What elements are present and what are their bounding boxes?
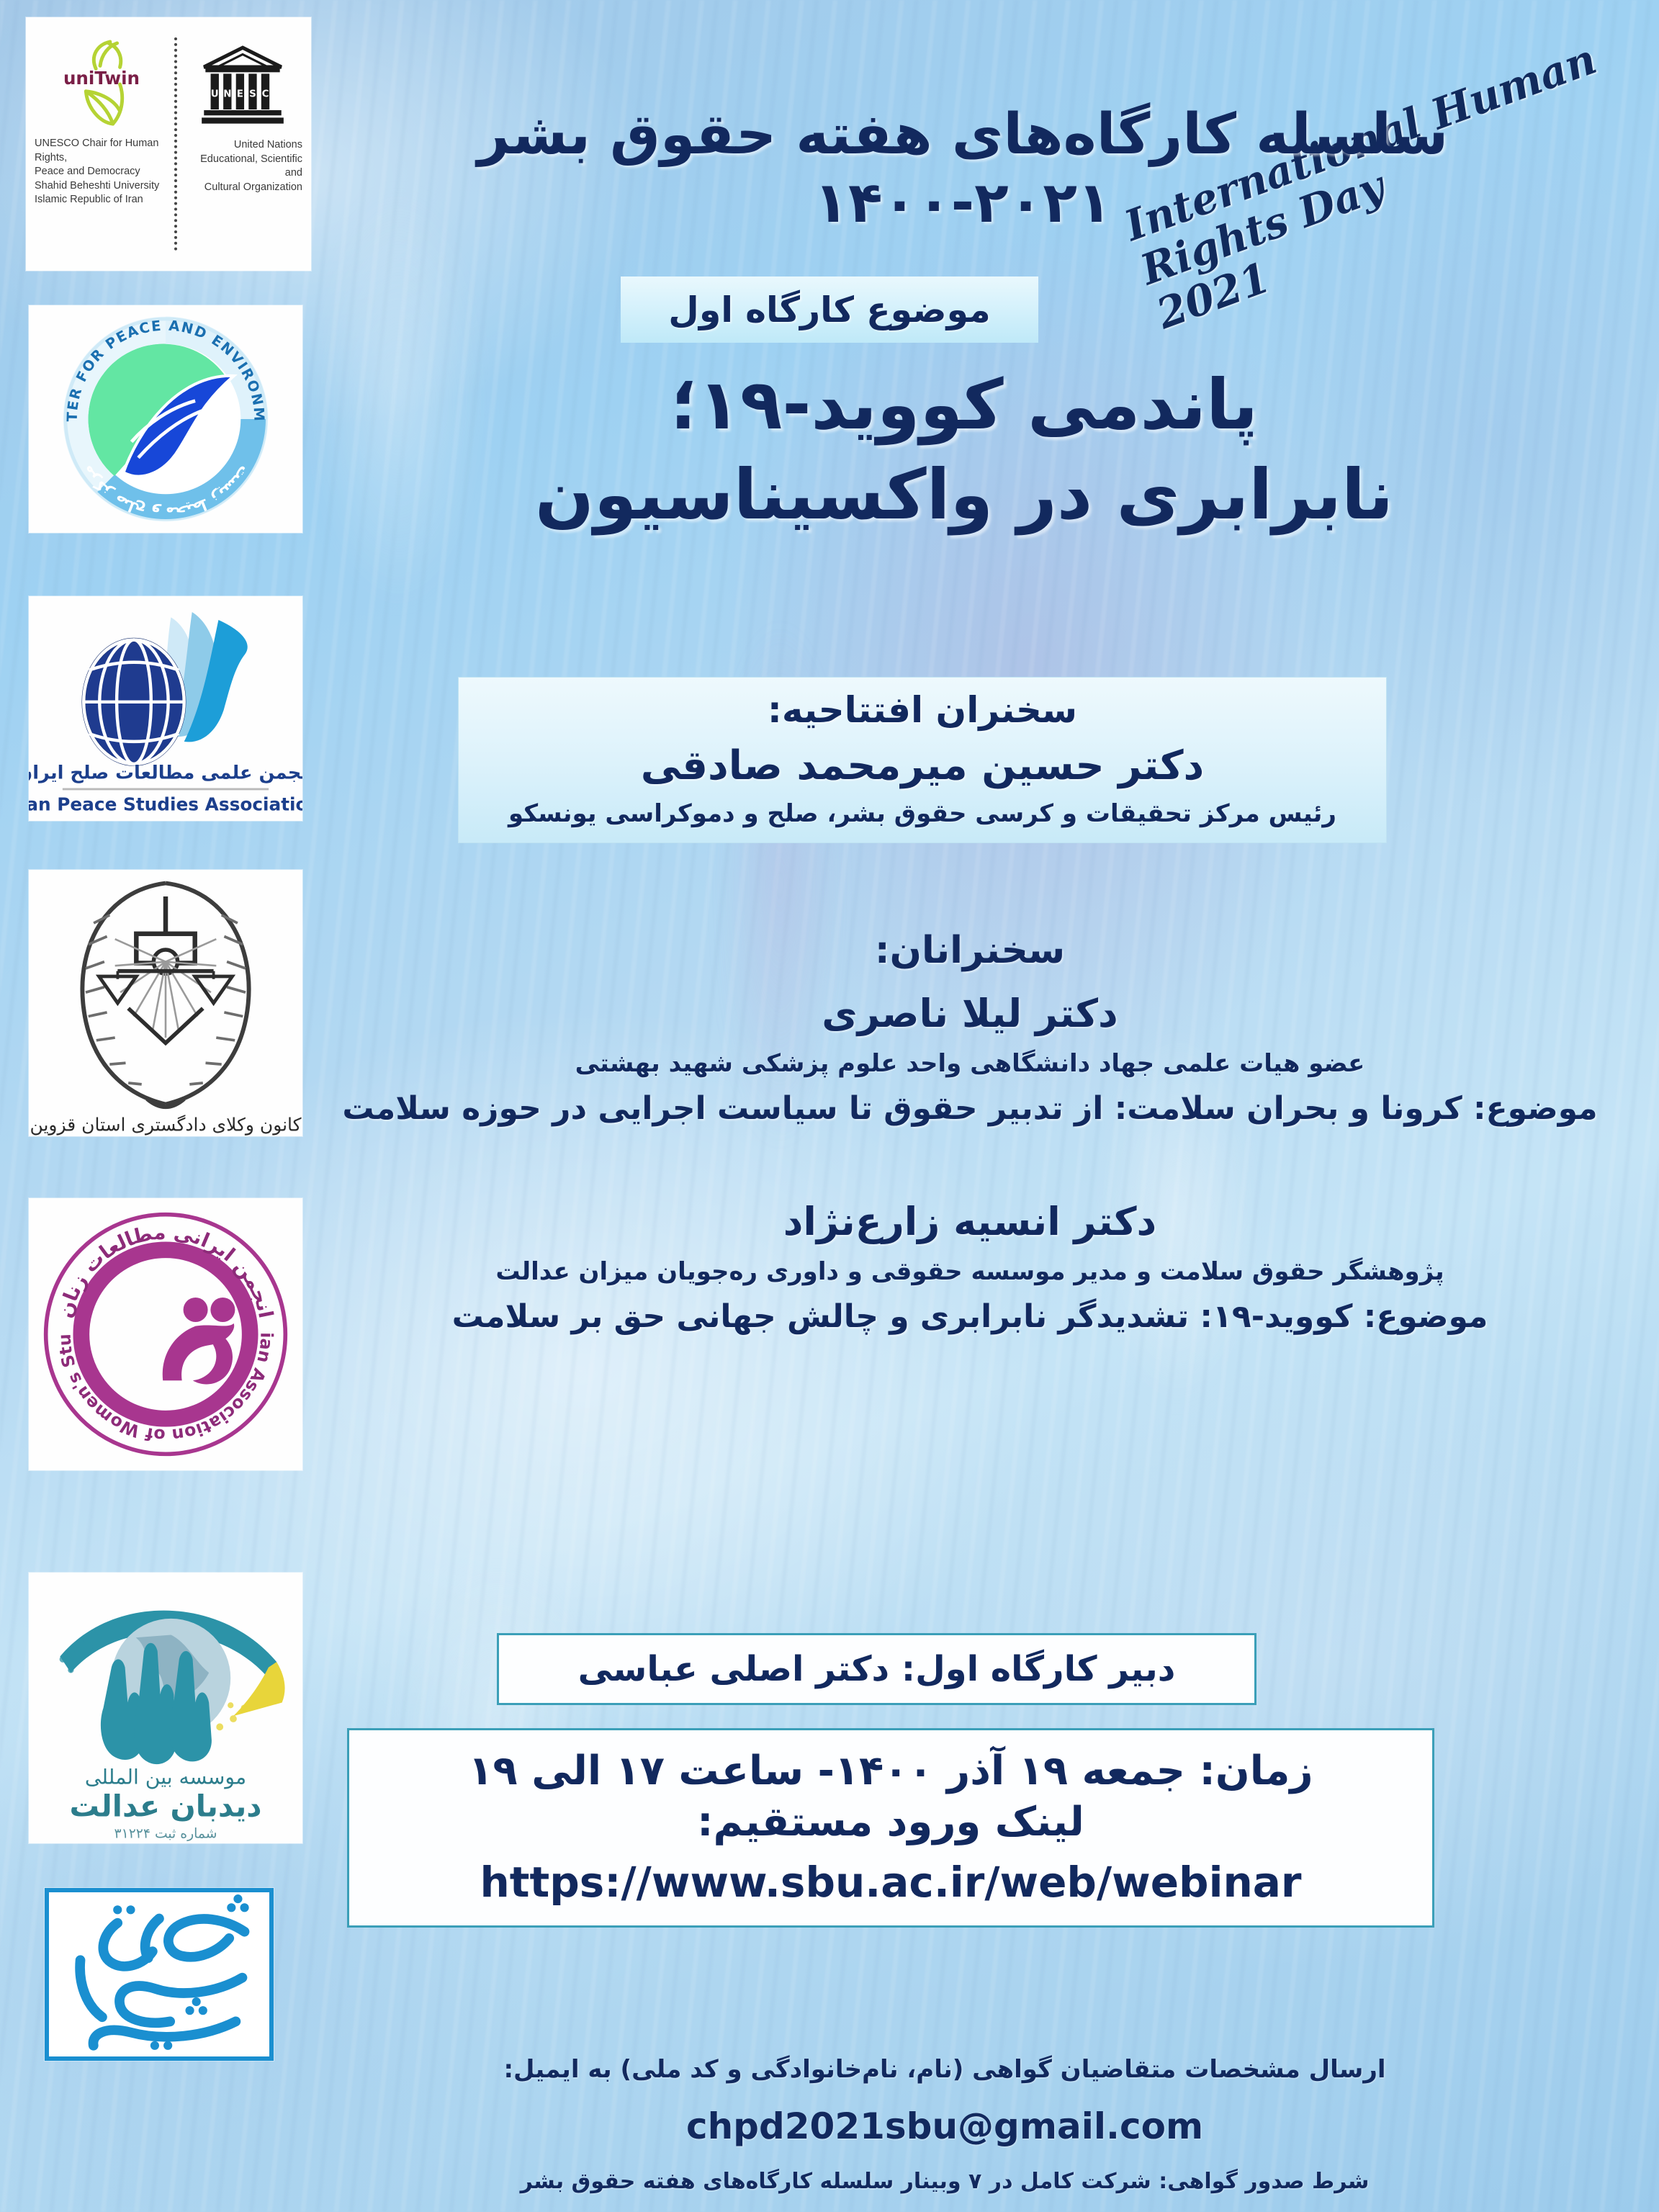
- svg-text:N: N: [223, 89, 231, 99]
- event-link-label: لینک ورود مستقیم:: [368, 1797, 1413, 1848]
- event-webinar-link[interactable]: https://www.sbu.ac.ir/web/webinar: [368, 1858, 1413, 1907]
- poster-canvas: U N E S C United Nations Educational, Sc…: [0, 0, 1659, 2212]
- opening-speaker-name: دکتر حسین میرمحمد صادقی: [472, 742, 1373, 789]
- footer-section: ارسال مشخصات متقاضیان گواهی (نام، نام‌خا…: [274, 2054, 1616, 2194]
- unitwin-caption: UNESCO Chair for Human Rights, Peace and…: [35, 137, 168, 207]
- svg-text:انجمن علمی مطالعات صلح ایران: انجمن علمی مطالعات صلح ایران: [29, 762, 302, 783]
- speaker-affiliation: پژوهشگر حقوق سلامت و مدیر موسسه حقوقی و …: [331, 1257, 1609, 1286]
- title-line-2: ۱۴۰۰-۲۰۲۱: [310, 169, 1616, 238]
- svg-text:S: S: [249, 89, 256, 99]
- speakers-heading: سخنرانان:: [331, 929, 1609, 972]
- speaker-affiliation: عضو هیات علمی جهاد دانشگاهی واحد علوم پز…: [331, 1049, 1609, 1078]
- peace-environment-seal-icon: CENTER FOR PEACE AND ENVIRONMENT مرکز صل…: [29, 305, 302, 533]
- speakers-section: سخنرانان: دکتر لیلا ناصری عضو هیات علمی …: [331, 929, 1609, 1338]
- logo-iranian-association-women-studies: انجمن ایرانی مطالعات زنان Iranian Associ…: [29, 1198, 302, 1470]
- unesco-temple-icon: U N E S C: [198, 45, 287, 130]
- unitwin-leaf-icon: uniTwin: [59, 37, 144, 128]
- event-time: زمان: جمعه ۱۹ آذر ۱۴۰۰- ساعت ۱۷ الی ۱۹: [368, 1746, 1413, 1797]
- svg-text:موسسه بین المللی: موسسه بین المللی: [85, 1765, 246, 1789]
- opening-speaker-role: سخنران افتتاحیه:: [472, 689, 1373, 731]
- svg-text:uniTwin: uniTwin: [63, 68, 140, 89]
- opening-speaker-panel: سخنران افتتاحیه: دکتر حسین میرمحمد صادقی…: [458, 677, 1387, 843]
- svg-text:شماره ثبت ۳۱۲۲۴: شماره ثبت ۳۱۲۲۴: [114, 1826, 217, 1841]
- speaker-entry: دکتر لیلا ناصری عضو هیات علمی جهاد دانشگ…: [331, 991, 1609, 1130]
- speaker-entry: دکتر انسیه زارع‌نژاد پژوهشگر حقوق سلامت …: [331, 1199, 1609, 1338]
- workshop-topic-badge: موضوع کارگاه اول: [621, 276, 1038, 343]
- sbu-calligraphy-icon: [49, 1892, 269, 2056]
- logo-center-peace-environment: CENTER FOR PEACE AND ENVIRONMENT مرکز صل…: [29, 305, 302, 533]
- logo-didbane-edalat: موسسه بین المللی دیدبان عدالت شماره ثبت …: [29, 1573, 302, 1843]
- peace-studies-globe-dove-icon: انجمن علمی مطالعات صلح ایران Iran Peace …: [29, 596, 302, 821]
- speaker-name: دکتر لیلا ناصری: [331, 991, 1609, 1036]
- unesco-caption: United Nations Educational, Scientific a…: [183, 138, 302, 194]
- women-studies-seal-icon: انجمن ایرانی مطالعات زنان Iranian Associ…: [29, 1198, 302, 1470]
- speaker-topic: موضوع: کووید-۱۹: تشدیدگر نابرابری و چالش…: [331, 1296, 1609, 1338]
- page-title: سلسله کارگاه‌های هفته حقوق بشر ۱۴۰۰-۲۰۲۱: [310, 101, 1616, 238]
- svg-text:Iran Peace Studies Association: Iran Peace Studies Association: [29, 793, 302, 814]
- sponsor-logo-column: U N E S C United Nations Educational, Sc…: [0, 0, 310, 2212]
- logo-shahid-beheshti-university: [45, 1888, 274, 2061]
- hero-line-1: پاندمی کووید-۱۹؛: [310, 360, 1619, 450]
- opening-speaker-affiliation: رئیس مرکز تحقیقات و کرسی حقوق بشر، صلح و…: [472, 799, 1373, 828]
- didbane-edalat-eye-icon: موسسه بین المللی دیدبان عدالت شماره ثبت …: [29, 1573, 302, 1843]
- workshop-secretary-box: دبیر کارگاه اول: دکتر اصلی عباسی: [497, 1633, 1256, 1705]
- speaker-name: دکتر انسیه زارع‌نژاد: [331, 1199, 1609, 1244]
- logo-iran-peace-studies: انجمن علمی مطالعات صلح ایران Iran Peace …: [29, 596, 302, 821]
- contact-email[interactable]: chpd2021sbu@gmail.com: [274, 2105, 1616, 2147]
- hero-line-2: نابرابری در واکسیناسیون: [310, 450, 1619, 540]
- bar-association-scales-wreath-icon: کانون وکلای دادگستری استان قزوین: [29, 870, 302, 1136]
- svg-text:دیدبان عدالت: دیدبان عدالت: [69, 1789, 261, 1823]
- svg-text:U: U: [211, 89, 219, 99]
- certificate-request-note: ارسال مشخصات متقاضیان گواهی (نام، نام‌خا…: [274, 2054, 1616, 2087]
- svg-text:C: C: [262, 89, 269, 99]
- logo-qazvin-bar-association: کانون وکلای دادگستری استان قزوین: [29, 870, 302, 1136]
- certificate-condition-note: شرط صدور گواهی: شرکت کامل در ۷ وبینار سل…: [274, 2169, 1616, 2194]
- svg-text:E: E: [237, 89, 243, 99]
- svg-text:کانون وکلای دادگستری استان قزو: کانون وکلای دادگستری استان قزوین: [30, 1115, 301, 1136]
- logo-unesco-unitwin: U N E S C United Nations Educational, Sc…: [26, 17, 311, 271]
- logo-divider: [174, 37, 177, 251]
- event-time-link-box: زمان: جمعه ۱۹ آذر ۱۴۰۰- ساعت ۱۷ الی ۱۹ ل…: [347, 1728, 1434, 1928]
- speaker-spacer: [331, 1130, 1609, 1180]
- workshop-hero-title: پاندمی کووید-۱۹؛ نابرابری در واکسیناسیون: [310, 360, 1619, 540]
- title-line-1: سلسله کارگاه‌های هفته حقوق بشر: [310, 101, 1616, 169]
- speaker-topic: موضوع: کرونا و بحران سلامت: از تدبیر حقو…: [331, 1088, 1609, 1130]
